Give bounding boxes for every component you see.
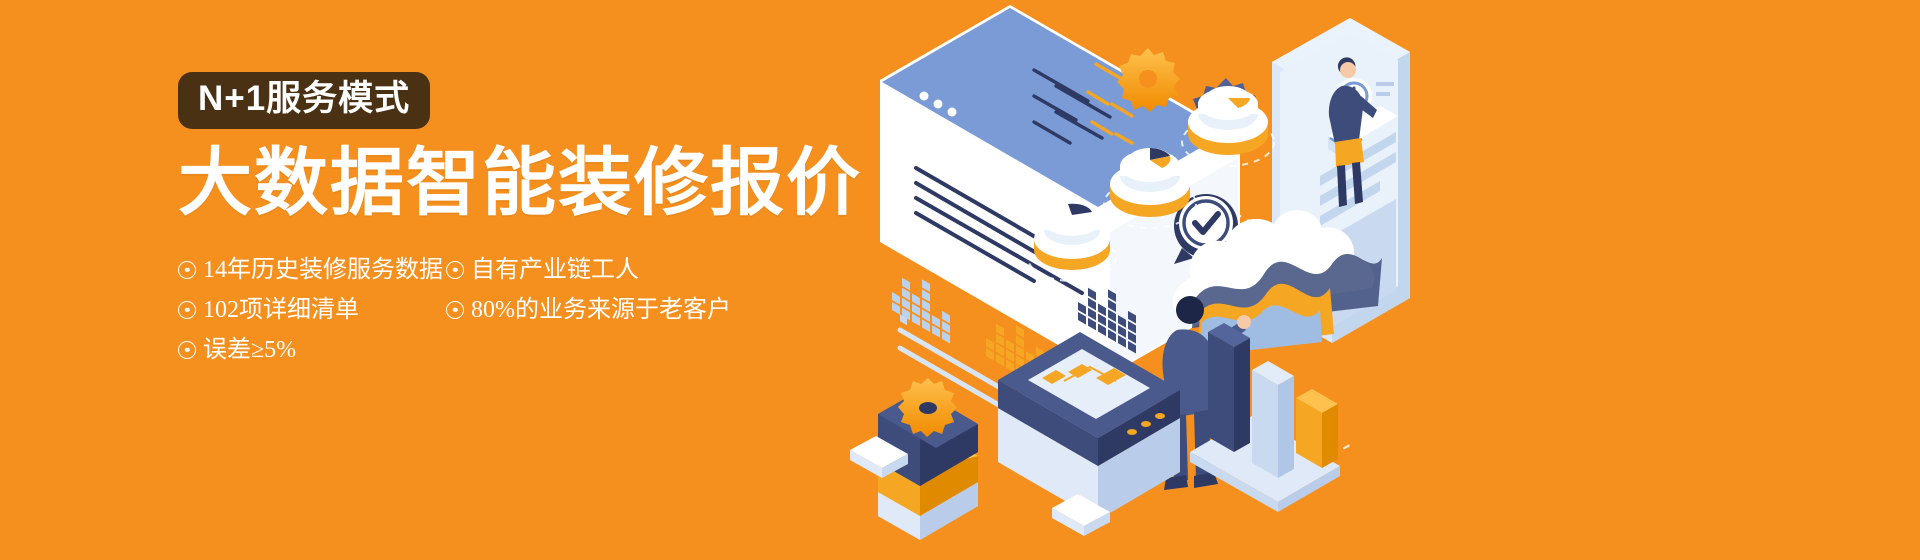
list-item: 14年历史装修服务数据 xyxy=(178,258,428,282)
circle-dot-icon xyxy=(446,261,464,279)
circle-dot-icon xyxy=(178,341,196,359)
circle-dot-icon xyxy=(446,301,464,319)
feature-bullet-list: 14年历史装修服务数据 自有产业链工人 102项详细清单 80%的业务来源于老客… xyxy=(178,250,858,370)
circle-dot-icon xyxy=(178,301,196,319)
list-item-label: 102项详细清单 xyxy=(203,298,359,322)
list-item-label: 80%的业务来源于老客户 xyxy=(471,298,731,322)
list-item-label: 误差≥5% xyxy=(203,338,296,362)
banner-text-column: N+1服务模式 大数据智能装修报价 14年历史装修服务数据 自有产业链工人 10… xyxy=(178,72,858,370)
list-item: 80%的业务来源于老客户 xyxy=(446,298,706,322)
service-mode-badge: N+1服务模式 xyxy=(178,72,430,129)
circle-dot-icon xyxy=(178,261,196,279)
list-item: 102项详细清单 xyxy=(178,298,428,322)
list-item: 误差≥5% xyxy=(178,338,428,362)
list-item: 自有产业链工人 xyxy=(446,258,706,282)
list-item-label: 14年历史装修服务数据 xyxy=(203,258,443,282)
promo-banner: N+1服务模式 大数据智能装修报价 14年历史装修服务数据 自有产业链工人 10… xyxy=(0,0,1920,560)
isometric-big-data-illustration xyxy=(820,0,1460,560)
list-item-label: 自有产业链工人 xyxy=(471,258,639,282)
page-title: 大数据智能装修报价 xyxy=(178,145,858,222)
